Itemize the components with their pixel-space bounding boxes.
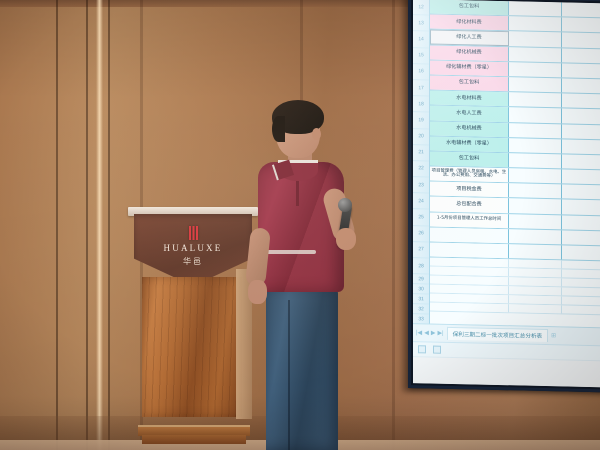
- cell-value-column-c[interactable]: [562, 109, 600, 124]
- cell-category-label[interactable]: 包工包料: [430, 151, 509, 167]
- wall-panel-seam: [392, 0, 395, 450]
- cell-value-column-b[interactable]: [509, 47, 562, 62]
- cell-value-column-c[interactable]: [562, 63, 600, 78]
- cell-empty[interactable]: [562, 261, 600, 270]
- cell-empty[interactable]: [509, 268, 562, 277]
- cell-value-column-c[interactable]: [562, 18, 600, 33]
- wall-panel-seam: [86, 0, 88, 450]
- cell-value-column-b[interactable]: [509, 77, 562, 92]
- wall-light-strip: [96, 0, 103, 450]
- jeans-seam: [288, 300, 290, 450]
- screen-lower-blank-area: [413, 356, 600, 387]
- cell-category-label[interactable]: 绿化人工费: [430, 30, 509, 46]
- cell-value-column-b[interactable]: [509, 1, 562, 16]
- podium-wood-body: [142, 277, 242, 417]
- row-number[interactable]: 22: [413, 161, 429, 178]
- hualuxe-emblem-icon: [188, 226, 199, 240]
- podium-base-plinth: [142, 435, 246, 444]
- cell-value-column-c[interactable]: [562, 169, 600, 184]
- cell-value-column-b[interactable]: [509, 214, 562, 229]
- cell-category-label[interactable]: [430, 227, 509, 243]
- cell-value-column-c[interactable]: [562, 124, 600, 139]
- cell-value-column-b[interactable]: [509, 229, 562, 244]
- cell-value-column-b[interactable]: [509, 168, 562, 183]
- cell-empty[interactable]: [430, 276, 509, 286]
- cell-value-column-c[interactable]: [562, 154, 600, 169]
- row-number[interactable]: 30: [413, 284, 429, 294]
- cell-empty[interactable]: [430, 294, 509, 304]
- cell-grid[interactable]: 包工包料绿化材料费绿化人工费绿化机械费绿化辅材费（零星）包工包料水电材料费水电人…: [430, 0, 600, 327]
- wall-panel-seam: [56, 0, 58, 450]
- layout-mode-icon[interactable]: [433, 346, 441, 354]
- row-number[interactable]: 27: [413, 242, 429, 259]
- row-number[interactable]: 15: [413, 48, 429, 65]
- cell-value-column-b[interactable]: [509, 92, 562, 107]
- brand-chinese-name: 华邑: [134, 256, 252, 267]
- sheet-nav-buttons[interactable]: |◀ ◀ ▶ ▶|: [416, 330, 444, 337]
- row-number[interactable]: 20: [413, 129, 429, 146]
- cell-value-column-c[interactable]: [562, 78, 600, 93]
- row-number[interactable]: 29: [413, 274, 429, 284]
- row-number[interactable]: 13: [413, 15, 429, 32]
- presenter-left-hand: [248, 280, 267, 304]
- cell-category-label[interactable]: 包工包料: [430, 0, 509, 15]
- cell-category-label[interactable]: 水电人工费: [430, 106, 509, 122]
- cell-empty[interactable]: [509, 304, 562, 313]
- cell-category-label[interactable]: 绿化材料费: [430, 15, 509, 31]
- cell-category-label[interactable]: 包工包料: [430, 75, 509, 91]
- cell-value-column-c[interactable]: [562, 93, 600, 108]
- cell-value-column-c[interactable]: [562, 245, 600, 260]
- row-number[interactable]: 28: [413, 258, 429, 275]
- presenter-ear: [312, 128, 321, 140]
- cell-value-column-b[interactable]: [509, 138, 562, 153]
- row-number[interactable]: 17: [413, 80, 429, 97]
- cell-empty[interactable]: [562, 288, 600, 297]
- cell-empty[interactable]: [430, 303, 509, 313]
- nav-prev-icon[interactable]: ◀: [424, 330, 429, 336]
- cell-empty[interactable]: [509, 286, 562, 295]
- nav-last-icon[interactable]: ▶|: [437, 330, 443, 336]
- row-number[interactable]: 18: [413, 96, 429, 113]
- cell-empty[interactable]: [562, 270, 600, 279]
- spreadsheet-window: 1213141516171819202122232425262728293031…: [413, 0, 600, 387]
- wall-panel-seam: [108, 0, 110, 450]
- sheet-tab[interactable]: 保利三期二标一批次项目汇总分析表: [447, 327, 549, 342]
- cell-value-column-b[interactable]: [509, 108, 562, 123]
- cell-category-label[interactable]: 水电机械费: [430, 121, 509, 137]
- cell-value-column-b[interactable]: [509, 199, 562, 214]
- cell-category-label[interactable]: 水电材料费: [430, 91, 509, 107]
- row-number-gutter[interactable]: 1213141516171819202122232425262728293031…: [413, 0, 430, 323]
- lectern-podium: HUALUXE 华邑: [128, 207, 258, 432]
- cell-empty[interactable]: [430, 258, 509, 268]
- cell-empty[interactable]: [430, 285, 509, 295]
- cell-category-label[interactable]: 绿化机械费: [430, 45, 509, 61]
- cell-value-column-c[interactable]: [562, 2, 600, 17]
- row-number[interactable]: 23: [413, 177, 429, 194]
- hotel-brand-logo: HUALUXE 华邑: [134, 226, 252, 267]
- cell-category-label[interactable]: 项目税金费: [430, 182, 509, 198]
- row-number[interactable]: 12: [413, 0, 429, 16]
- cell-value-column-b[interactable]: [509, 123, 562, 138]
- cell-value-column-c[interactable]: [562, 200, 600, 215]
- nav-next-icon[interactable]: ▶: [431, 330, 436, 336]
- cell-value-column-c[interactable]: [562, 139, 600, 154]
- cell-empty[interactable]: [509, 295, 562, 304]
- presenter-right-hand: [336, 228, 356, 250]
- cell-value-column-b[interactable]: [509, 16, 562, 31]
- row-number[interactable]: 16: [413, 64, 429, 81]
- cell-value-column-b[interactable]: [509, 62, 562, 77]
- cell-value-column-c[interactable]: [562, 215, 600, 230]
- wood-grain-texture: [142, 277, 242, 417]
- cell-category-label[interactable]: 水电辅材费（零星）: [430, 136, 509, 152]
- cell-category-label[interactable]: [430, 242, 509, 258]
- cell-empty[interactable]: [562, 279, 600, 288]
- nav-first-icon[interactable]: |◀: [416, 330, 422, 336]
- cell-value-column-c[interactable]: [562, 230, 600, 245]
- podium-front-panel: HUALUXE 华邑: [134, 214, 252, 286]
- row-number[interactable]: 31: [413, 294, 429, 304]
- cell-value-column-b[interactable]: [509, 183, 562, 198]
- cell-category-label[interactable]: 绿化辅材费（零星）: [430, 60, 509, 76]
- row-number[interactable]: 25: [413, 210, 429, 227]
- cell-value-column-b[interactable]: [509, 153, 562, 168]
- cell-empty[interactable]: [430, 267, 509, 277]
- row-number[interactable]: 21: [413, 145, 429, 162]
- cell-empty[interactable]: [562, 297, 600, 306]
- cell-value-column-b[interactable]: [509, 32, 562, 47]
- cell-empty[interactable]: [509, 259, 562, 268]
- cell-category-label[interactable]: 1-5月份项目管理人员工作总时间: [430, 212, 509, 228]
- cell-empty[interactable]: [562, 306, 600, 315]
- projection-screen: 1213141516171819202122232425262728293031…: [408, 0, 600, 392]
- cell-empty[interactable]: [509, 277, 562, 286]
- microphone-head-icon: [338, 198, 352, 212]
- photo-scene: 1213141516171819202122232425262728293031…: [0, 0, 600, 450]
- cell-value-column-b[interactable]: [509, 244, 562, 259]
- cell-category-label[interactable]: 项目管理费（管理人员房租、水电、生活、办公费用、交通费等）: [430, 167, 509, 183]
- add-sheet-icon[interactable]: ⊞: [551, 332, 556, 339]
- row-number[interactable]: 26: [413, 226, 429, 243]
- row-number[interactable]: 19: [413, 112, 429, 129]
- spreadsheet-grid-area: 1213141516171819202122232425262728293031…: [413, 0, 600, 327]
- cell-value-column-c[interactable]: [562, 48, 600, 63]
- presenter-hair-side: [272, 116, 285, 142]
- cell-category-label[interactable]: 总包配合费: [430, 197, 509, 213]
- cell-value-column-c[interactable]: [562, 33, 600, 48]
- presenter-jeans: [266, 286, 338, 450]
- cell-value-column-c[interactable]: [562, 185, 600, 200]
- brand-wordmark: HUALUXE: [134, 243, 252, 253]
- row-number[interactable]: 14: [413, 31, 429, 48]
- presenter: [240, 100, 370, 450]
- view-mode-icon[interactable]: [418, 345, 426, 353]
- row-number[interactable]: 24: [413, 193, 429, 210]
- row-number[interactable]: 32: [413, 304, 429, 314]
